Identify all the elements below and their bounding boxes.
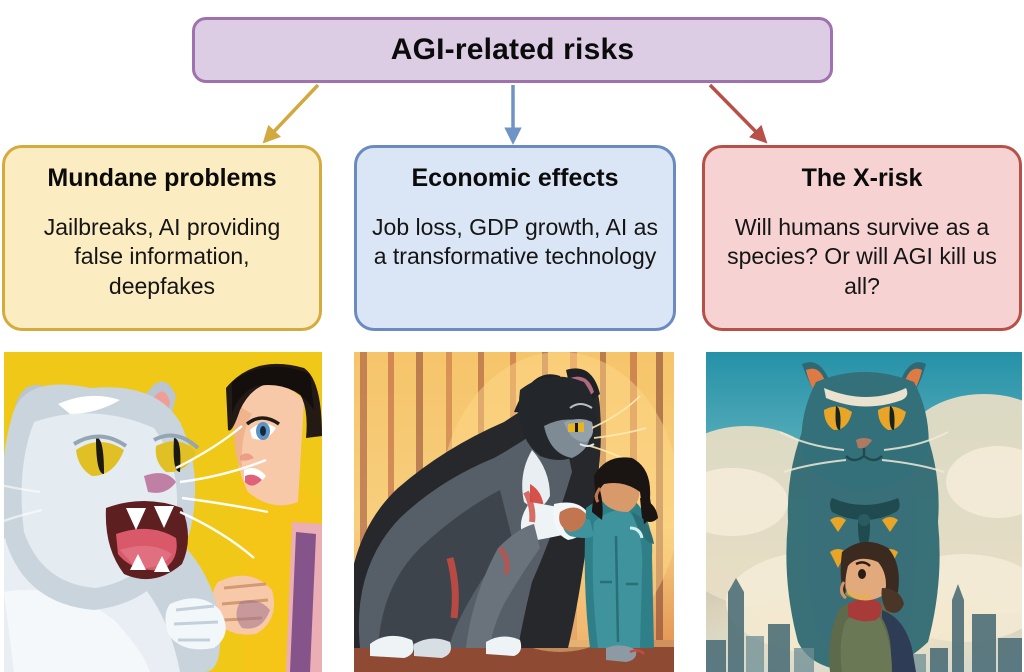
root-node-agi-related-risks[interactable]: AGI-related risks [192,17,833,83]
branch-title-mundane: Mundane problems [47,165,276,193]
branch-card-mundane[interactable]: Mundane problems Jailbreaks, AI providin… [2,145,322,331]
illustration-mundane [4,352,322,672]
branch-card-xrisk[interactable]: The X-risk Will humans survive as a spec… [702,145,1022,331]
arrow-to-xrisk [710,85,764,140]
branch-title-economic: Economic effects [411,165,618,193]
cat-handshake-illustration [354,352,674,672]
illustration-xrisk [706,352,1022,672]
root-node-label: AGI-related risks [391,33,635,67]
illustration-economic [354,352,674,672]
branch-card-economic[interactable]: Economic effects Job loss, GDP growth, A… [354,145,676,331]
diagram-canvas: AGI-related risks Mundane problems Jailb… [0,0,1024,672]
branch-title-xrisk: The X-risk [802,165,923,193]
branch-body-xrisk: Will humans survive as a species? Or wil… [719,213,1005,303]
branch-body-mundane: Jailbreaks, AI providing false informati… [19,213,305,303]
branch-body-economic: Job loss, GDP growth, AI as a transforma… [371,213,659,273]
arrow-to-mundane [266,85,318,140]
hissing-cat-illustration [4,352,322,672]
giant-cat-city-illustration [706,352,1022,672]
